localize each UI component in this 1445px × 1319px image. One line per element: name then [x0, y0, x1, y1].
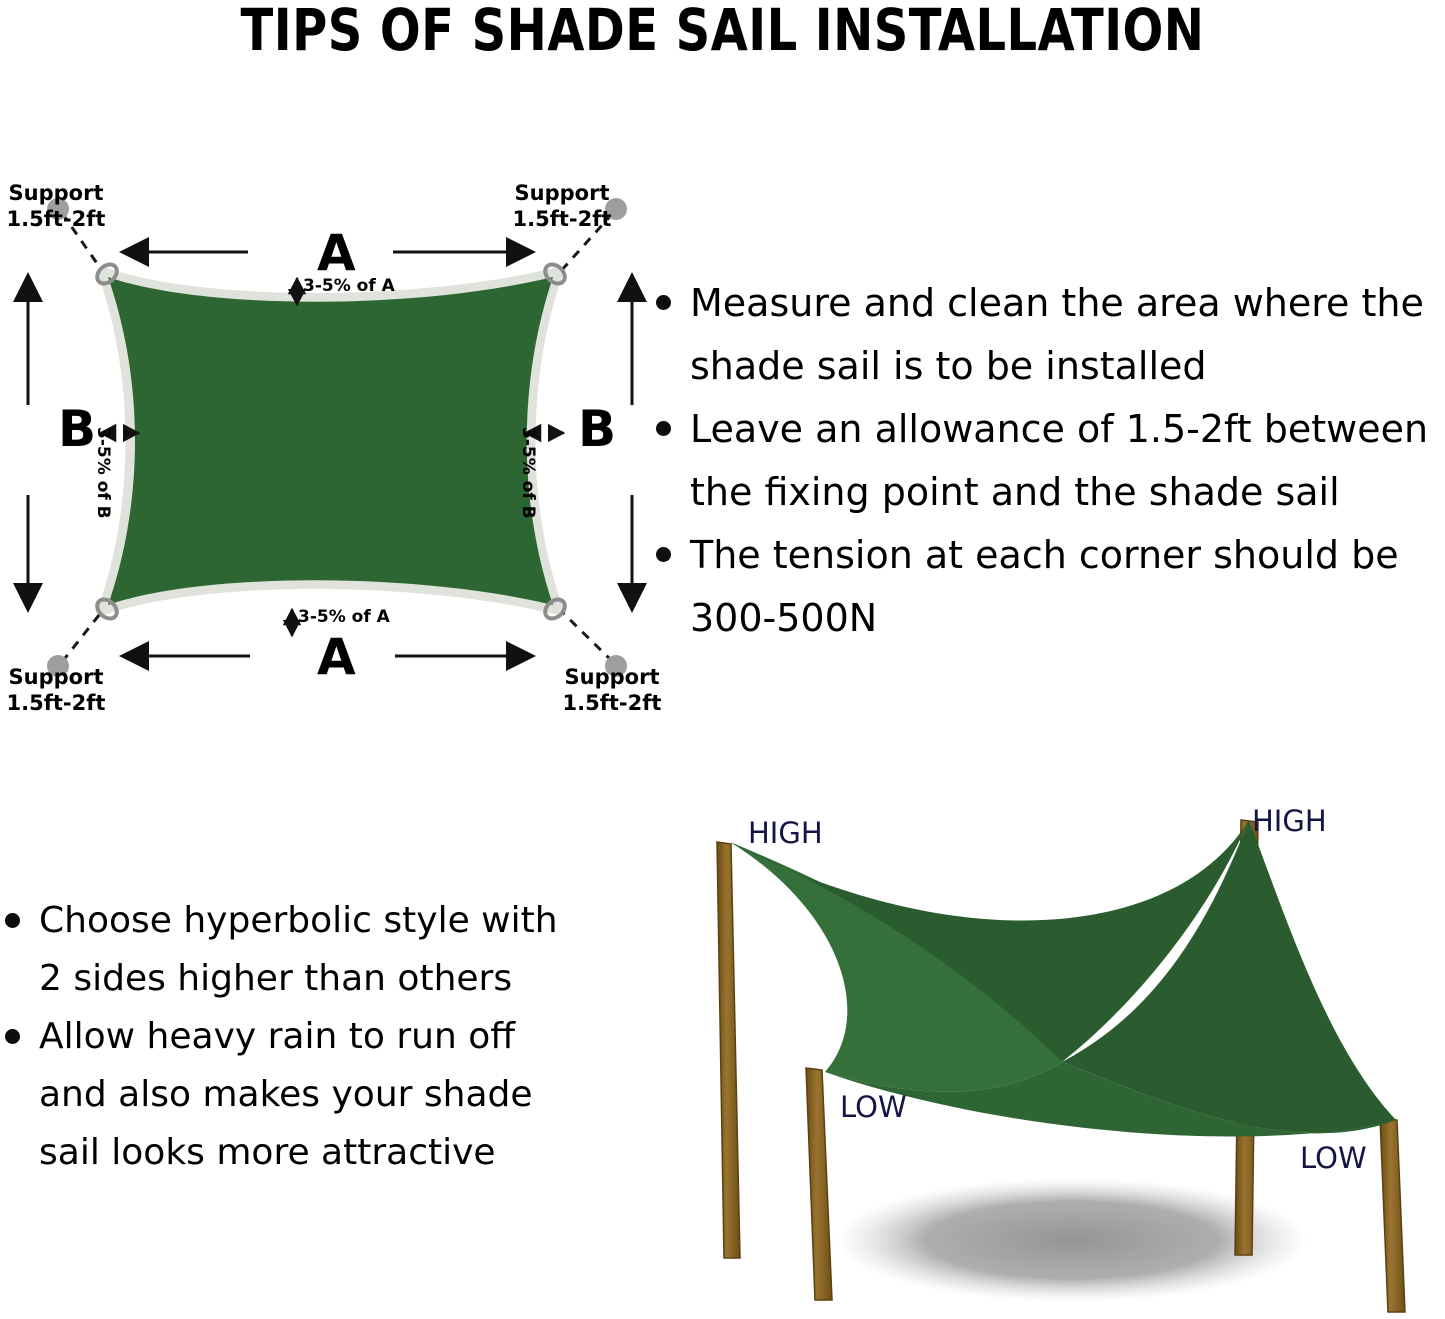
support-label-top-right: Support 1.5ft-2ft: [512, 180, 612, 232]
list-item: The tension at each corner should be 300…: [656, 524, 1445, 650]
bullet-dot-icon: [5, 1029, 20, 1044]
shade-sail-body: [108, 277, 553, 605]
bullet-dot-icon: [656, 295, 671, 310]
post-front-left: [806, 1068, 832, 1300]
curve-label-right: 3-5% of B: [518, 427, 538, 519]
infographic-page: TIPS OF SHADE SAIL INSTALLATION: [0, 0, 1445, 1319]
list-item: Leave an allowance of 1.5-2ft between th…: [656, 398, 1445, 524]
list-item: Choose hyperbolic style with 2 sides hig…: [5, 892, 625, 1008]
list-item-text: Leave an allowance of 1.5-2ft between th…: [690, 398, 1445, 524]
dimension-letter-right-b: B: [578, 404, 616, 454]
list-item-text: Choose hyperbolic style with 2 sides hig…: [39, 892, 625, 1008]
post-label-front-left: LOW: [840, 1092, 907, 1122]
support-label-bottom-right: Support 1.5ft-2ft: [562, 664, 662, 716]
post-label-front-right: LOW: [1300, 1143, 1367, 1173]
installation-tips-list-left: Choose hyperbolic style with 2 sides hig…: [5, 892, 625, 1182]
dimension-letter-top-a: A: [317, 228, 356, 278]
list-item-text: Allow heavy rain to run off and also mak…: [39, 1008, 625, 1182]
list-item-text: Measure and clean the area where the sha…: [690, 272, 1445, 398]
curve-label-left: 3-5% of B: [93, 427, 113, 519]
page-title: TIPS OF SHADE SAIL INSTALLATION: [58, 0, 1387, 62]
dimension-letter-bottom-a: A: [317, 632, 356, 682]
bullet-dot-icon: [5, 913, 20, 928]
bullet-dot-icon: [656, 547, 671, 562]
bullet-dot-icon: [656, 421, 671, 436]
post-front-right: [1380, 1118, 1405, 1312]
post-back-left: [717, 842, 740, 1258]
list-item: Measure and clean the area where the sha…: [656, 272, 1445, 398]
curve-label-top: 3-5% of A: [303, 277, 395, 295]
installation-tips-list-right: Measure and clean the area where the sha…: [656, 272, 1445, 650]
support-label-top-left: Support 1.5ft-2ft: [6, 180, 106, 232]
post-label-back-right: HIGH: [1252, 806, 1327, 836]
post-label-back-left: HIGH: [748, 818, 823, 848]
list-item: Allow heavy rain to run off and also mak…: [5, 1008, 625, 1182]
list-item-text: The tension at each corner should be 300…: [690, 524, 1445, 650]
dimension-letter-left-b: B: [58, 404, 96, 454]
curve-label-bottom: 3-5% of A: [298, 608, 390, 626]
bottom-diagram-graphics: [690, 800, 1445, 1319]
support-label-bottom-left: Support 1.5ft-2ft: [6, 664, 106, 716]
